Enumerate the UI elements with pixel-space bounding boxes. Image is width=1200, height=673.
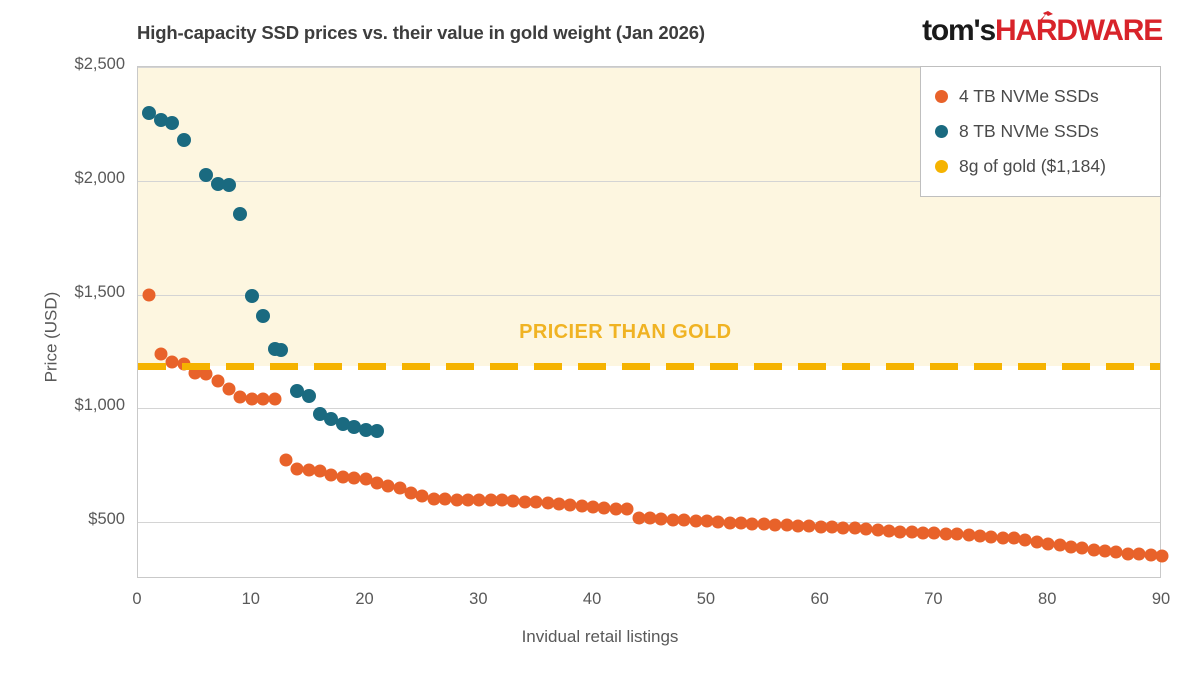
- data-point: [274, 343, 288, 357]
- chart-page: High-capacity SSD prices vs. their value…: [0, 0, 1200, 673]
- legend-label: 8 TB NVMe SSDs: [959, 121, 1099, 142]
- legend-marker-icon: [935, 160, 948, 173]
- data-point: [177, 133, 191, 147]
- x-axis-tick-label: 80: [1038, 590, 1056, 609]
- legend-marker-icon: [935, 90, 948, 103]
- y-axis-tick-label: $500: [0, 510, 125, 529]
- x-axis-tick-label: 20: [355, 590, 373, 609]
- data-point: [1156, 549, 1169, 562]
- data-point: [245, 289, 259, 303]
- data-point: [621, 502, 634, 515]
- legend-label: 4 TB NVMe SSDs: [959, 86, 1099, 107]
- legend-label: 8g of gold ($1,184): [959, 156, 1106, 177]
- x-axis-label: Invidual retail listings: [0, 627, 1200, 647]
- legend-marker-icon: [935, 125, 948, 138]
- data-point: [268, 393, 281, 406]
- data-point: [222, 178, 236, 192]
- y-axis-tick-label: $2,000: [0, 169, 125, 188]
- hammer-icon: [1037, 11, 1054, 24]
- logo-hardware-text: HARDWARE: [995, 14, 1162, 47]
- data-point: [256, 309, 270, 323]
- x-axis-tick-label: 10: [242, 590, 260, 609]
- x-axis-tick-label: 70: [924, 590, 942, 609]
- x-axis-tick-label: 0: [132, 590, 141, 609]
- y-axis-tick-label: $1,500: [0, 283, 125, 302]
- data-point: [370, 424, 384, 438]
- x-axis-tick-label: 60: [810, 590, 828, 609]
- pricier-than-gold-annotation: PRICIER THAN GOLD: [519, 321, 731, 344]
- x-axis-tick-label: 90: [1152, 590, 1170, 609]
- y-axis-tick-label: $1,000: [0, 396, 125, 415]
- legend-item-8tb[interactable]: 8 TB NVMe SSDs: [935, 114, 1160, 149]
- logo-toms-text: tom's: [922, 14, 995, 47]
- chart-legend: 4 TB NVMe SSDs 8 TB NVMe SSDs 8g of gold…: [920, 66, 1161, 197]
- legend-item-4tb[interactable]: 4 TB NVMe SSDs: [935, 79, 1160, 114]
- gridline: [138, 295, 1160, 296]
- toms-hardware-logo: tom'sHARDWARE: [922, 16, 1162, 46]
- legend-item-gold[interactable]: 8g of gold ($1,184): [935, 149, 1160, 184]
- data-point: [165, 116, 179, 130]
- data-point: [302, 389, 316, 403]
- y-axis-label: Price (USD): [41, 291, 61, 382]
- gridline: [138, 408, 1160, 409]
- x-axis-tick-label: 50: [697, 590, 715, 609]
- data-point: [279, 453, 292, 466]
- y-axis-tick-label: $2,500: [0, 55, 125, 74]
- x-axis-tick-label: 40: [583, 590, 601, 609]
- x-axis-tick-label: 30: [469, 590, 487, 609]
- data-point: [233, 207, 247, 221]
- gold-reference-line: [138, 363, 1160, 370]
- page-title: High-capacity SSD prices vs. their value…: [137, 22, 705, 44]
- data-point: [143, 288, 156, 301]
